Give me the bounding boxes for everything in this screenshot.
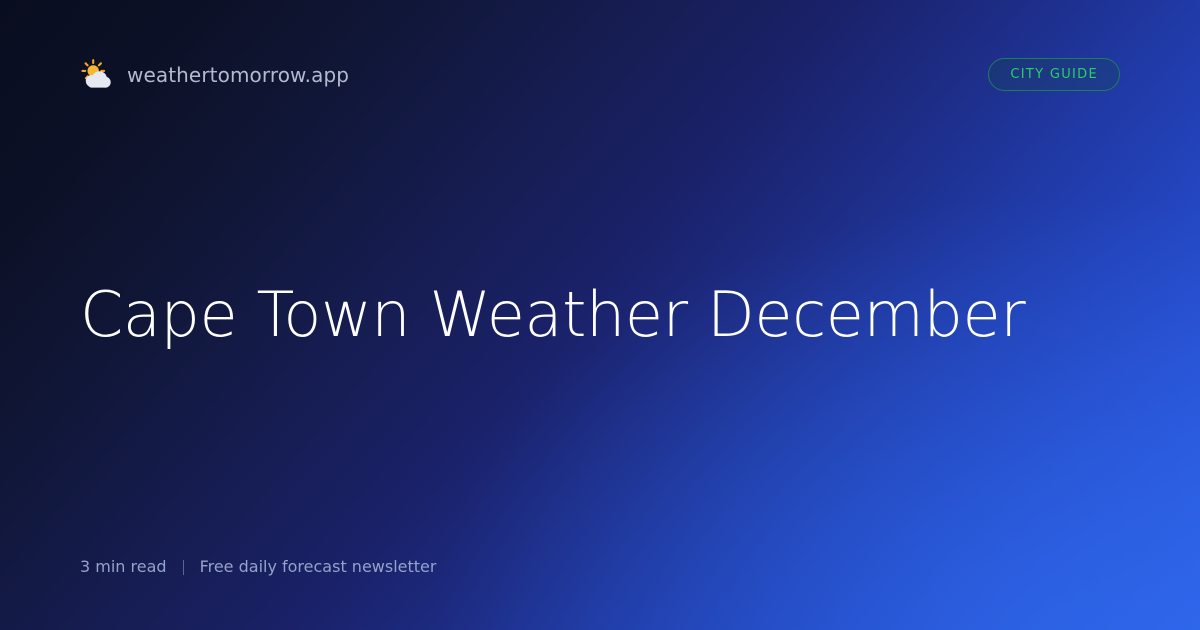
og-card: weathertomorrow.app CITY GUIDE Cape Town… [0, 0, 1200, 630]
title-container: Cape Town Weather December [80, 0, 1120, 630]
newsletter-label: Free daily forecast newsletter [200, 559, 437, 575]
read-time-label: 3 min read [80, 559, 167, 575]
page-title: Cape Town Weather December [80, 280, 1025, 349]
footer-meta: 3 min read Free daily forecast newslette… [80, 559, 436, 575]
footer-separator [183, 560, 184, 575]
